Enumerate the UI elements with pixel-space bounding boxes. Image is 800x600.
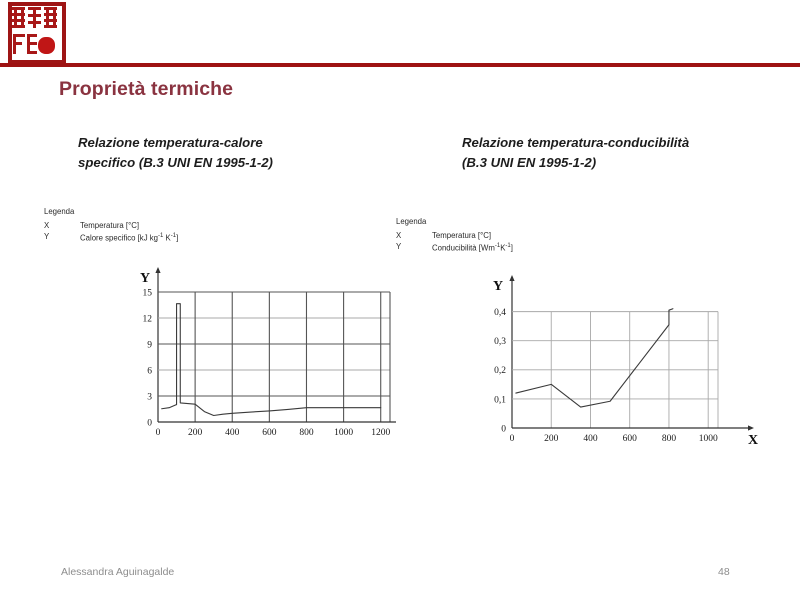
y-axis-arrow	[155, 267, 160, 273]
right-legend-row-y: Y Conducibilità [Wm-1K-1]	[396, 241, 513, 254]
seal-dot	[38, 37, 55, 54]
right-legend-y-main: Conducibilità [Wm	[432, 244, 495, 253]
x-tick-label: 400	[583, 434, 598, 444]
left-column-heading: Relazione temperatura-calore specifico (…	[78, 133, 273, 173]
x-tick-label: 400	[225, 428, 240, 438]
left-legend-x-key: X	[44, 220, 80, 232]
right-legend-x-label: Temperatura [°C]	[432, 230, 491, 242]
page-title: Proprietà termiche	[59, 78, 233, 101]
y-tick-label: 0	[147, 418, 152, 428]
right-chart-legend: Legenda X Temperatura [°C] Y Conducibili…	[396, 216, 513, 254]
left-legend-row-x: X Temperatura [°C]	[44, 220, 178, 232]
left-legend-y-key: Y	[44, 231, 80, 244]
right-heading-line1: Relazione temperatura-conducibilità	[462, 133, 689, 153]
right-legend-row-x: X Temperatura [°C]	[396, 230, 513, 242]
right-legend-y-end: ]	[511, 244, 513, 253]
x-tick-label: 1200	[371, 428, 390, 438]
right-legend-x-key: X	[396, 230, 432, 242]
x-tick-label: 0	[510, 434, 515, 444]
x-tick-label: 600	[262, 428, 277, 438]
x-tick-label: 200	[544, 434, 559, 444]
right-legend-y-key: Y	[396, 241, 432, 254]
y-tick-label: 9	[147, 340, 152, 350]
y-tick-label: 15	[143, 288, 153, 298]
footer-page-number: 48	[718, 566, 730, 578]
left-legend-y-end: ]	[176, 234, 178, 243]
x-axis-letter: X	[748, 433, 758, 448]
left-legend-y-mid: K	[163, 234, 170, 243]
right-heading-line2: (B.3 UNI EN 1995-1-2)	[462, 153, 689, 173]
y-tick-label: 0,1	[494, 395, 506, 405]
specific-heat-plot: Y36912150020040060080010001200	[118, 264, 396, 454]
header-divider	[0, 63, 800, 67]
y-axis-letter: Y	[140, 271, 150, 286]
y-axis-arrow	[509, 275, 514, 281]
specific-heat-chart: Y36912150020040060080010001200	[118, 264, 396, 454]
y-tick-label: 0,3	[494, 337, 506, 347]
x-tick-label: 1000	[699, 434, 718, 444]
red-seal-stamp-logo	[8, 2, 66, 64]
x-tick-label: 1000	[334, 428, 353, 438]
y-tick-label: 0,4	[494, 308, 506, 318]
left-legend-y-main: Calore specifico [kJ kg	[80, 234, 158, 243]
x-tick-label: 800	[299, 428, 314, 438]
y-axis-letter: Y	[493, 279, 503, 294]
slide-canvas: Proprietà termiche Relazione temperatura…	[0, 0, 800, 600]
x-tick-label: 600	[623, 434, 638, 444]
right-column-heading: Relazione temperatura-conducibilità (B.3…	[462, 133, 689, 173]
y-tick-label: 3	[147, 392, 152, 402]
left-legend-title: Legenda	[44, 206, 178, 218]
thermal-conductivity-plot: Y00,10,20,30,402004006008001000X	[470, 270, 760, 456]
y-tick-label: 6	[147, 366, 152, 376]
right-legend-y-label: Conducibilità [Wm-1K-1]	[432, 241, 513, 254]
left-heading-line1: Relazione temperatura-calore	[78, 133, 273, 153]
x-tick-label: 0	[156, 428, 161, 438]
footer-author: Alessandra Aguinagalde	[61, 566, 174, 578]
x-tick-label: 200	[188, 428, 203, 438]
seal-glyphs	[11, 4, 59, 58]
right-legend-title: Legenda	[396, 216, 513, 228]
data-series-line	[516, 309, 673, 407]
data-series-line	[162, 304, 381, 416]
left-legend-row-y: Y Calore specifico [kJ kg-1 K-1]	[44, 231, 178, 244]
x-tick-label: 800	[662, 434, 677, 444]
y-tick-label: 12	[143, 314, 153, 324]
y-tick-label: 0	[501, 424, 506, 434]
left-legend-x-label: Temperatura [°C]	[80, 220, 139, 232]
left-heading-line2: specifico (B.3 UNI EN 1995-1-2)	[78, 153, 273, 173]
thermal-conductivity-chart: Y00,10,20,30,402004006008001000X	[470, 270, 760, 456]
y-tick-label: 0,2	[494, 366, 506, 376]
left-legend-y-label: Calore specifico [kJ kg-1 K-1]	[80, 231, 178, 244]
left-chart-legend: Legenda X Temperatura [°C] Y Calore spec…	[44, 206, 178, 244]
x-axis-arrow	[748, 425, 754, 430]
